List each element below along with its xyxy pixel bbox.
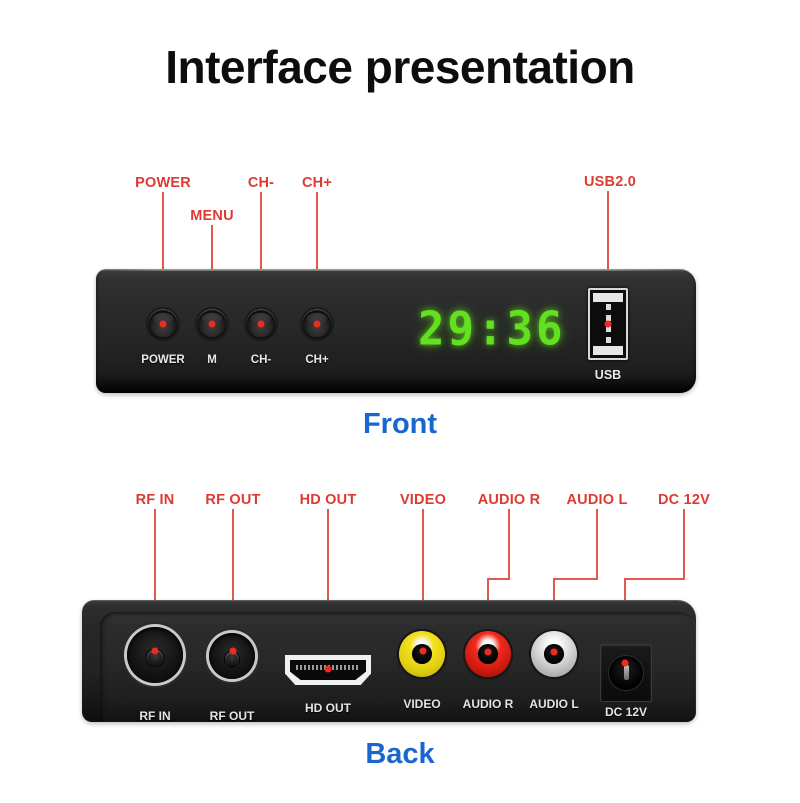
port-label-rf-in: RF IN xyxy=(139,709,170,723)
anchor-dot-menu xyxy=(209,321,216,328)
leader-line-audio-r-upper xyxy=(508,509,510,579)
anchor-dot-audio-r xyxy=(485,649,492,656)
port-rf-out[interactable] xyxy=(209,633,255,679)
port-label-audio-r: AUDIO R xyxy=(463,697,514,711)
usb-bar-top xyxy=(593,293,623,302)
port-rf-in[interactable] xyxy=(127,627,183,683)
callout-audio-l: AUDIO L xyxy=(566,492,627,508)
anchor-dot-ch-plus xyxy=(314,321,321,328)
callout-video: VIDEO xyxy=(400,492,446,508)
front-button-label-power: POWER xyxy=(141,354,184,366)
anchor-dot-usb20 xyxy=(605,321,612,328)
anchor-dot-rf-in xyxy=(152,648,159,655)
anchor-dot-power xyxy=(160,321,167,328)
leader-line-dc-12v-upper xyxy=(683,509,685,579)
dc-jack-center-post xyxy=(624,665,629,680)
callout-menu: MENU xyxy=(190,208,234,224)
callout-rf-out: RF OUT xyxy=(205,492,260,508)
callout-ch-minus: CH- xyxy=(248,175,274,191)
callout-usb20: USB2.0 xyxy=(584,174,636,190)
interface-diagram: Interface presentation POWER MENU CH- CH… xyxy=(0,0,800,803)
leader-line-audio-l-jog xyxy=(553,578,598,580)
anchor-dot-video xyxy=(420,648,427,655)
port-dc-12v[interactable] xyxy=(600,644,652,702)
callout-audio-r: AUDIO R xyxy=(478,492,541,508)
callout-rf-in: RF IN xyxy=(136,492,175,508)
port-label-audio-l: AUDIO L xyxy=(529,697,578,711)
anchor-dot-dc-12v xyxy=(622,660,629,667)
callout-hd-out: HD OUT xyxy=(300,492,357,508)
port-label-dc-12v: DC 12V xyxy=(605,705,647,719)
usb-bar-bottom xyxy=(593,346,623,355)
leader-line-audio-r-jog xyxy=(487,578,510,580)
anchor-dot-rf-out xyxy=(230,648,237,655)
port-label-hd-out: HD OUT xyxy=(305,701,351,715)
anchor-dot-audio-l xyxy=(551,649,558,656)
front-section-caption: Front xyxy=(0,408,800,441)
anchor-dot-ch-minus xyxy=(258,321,265,328)
front-button-label-ch-plus: CH+ xyxy=(305,354,328,366)
port-label-video: VIDEO xyxy=(403,697,440,711)
callout-ch-plus: CH+ xyxy=(302,175,332,191)
front-button-label-menu: M xyxy=(207,354,217,366)
page-title: Interface presentation xyxy=(0,40,800,94)
callout-power: POWER xyxy=(135,175,191,191)
back-section-caption: Back xyxy=(0,738,800,771)
port-label-rf-out: RF OUT xyxy=(210,709,255,723)
leader-line-dc-12v-jog xyxy=(624,578,685,580)
leader-line-audio-l-upper xyxy=(596,509,598,579)
usb-port-label: USB xyxy=(595,368,621,382)
led-clock-display: 29:36 xyxy=(418,303,565,357)
anchor-dot-hd-out xyxy=(325,666,332,673)
front-button-label-ch-minus: CH- xyxy=(251,354,271,366)
callout-dc-12v: DC 12V xyxy=(658,492,710,508)
